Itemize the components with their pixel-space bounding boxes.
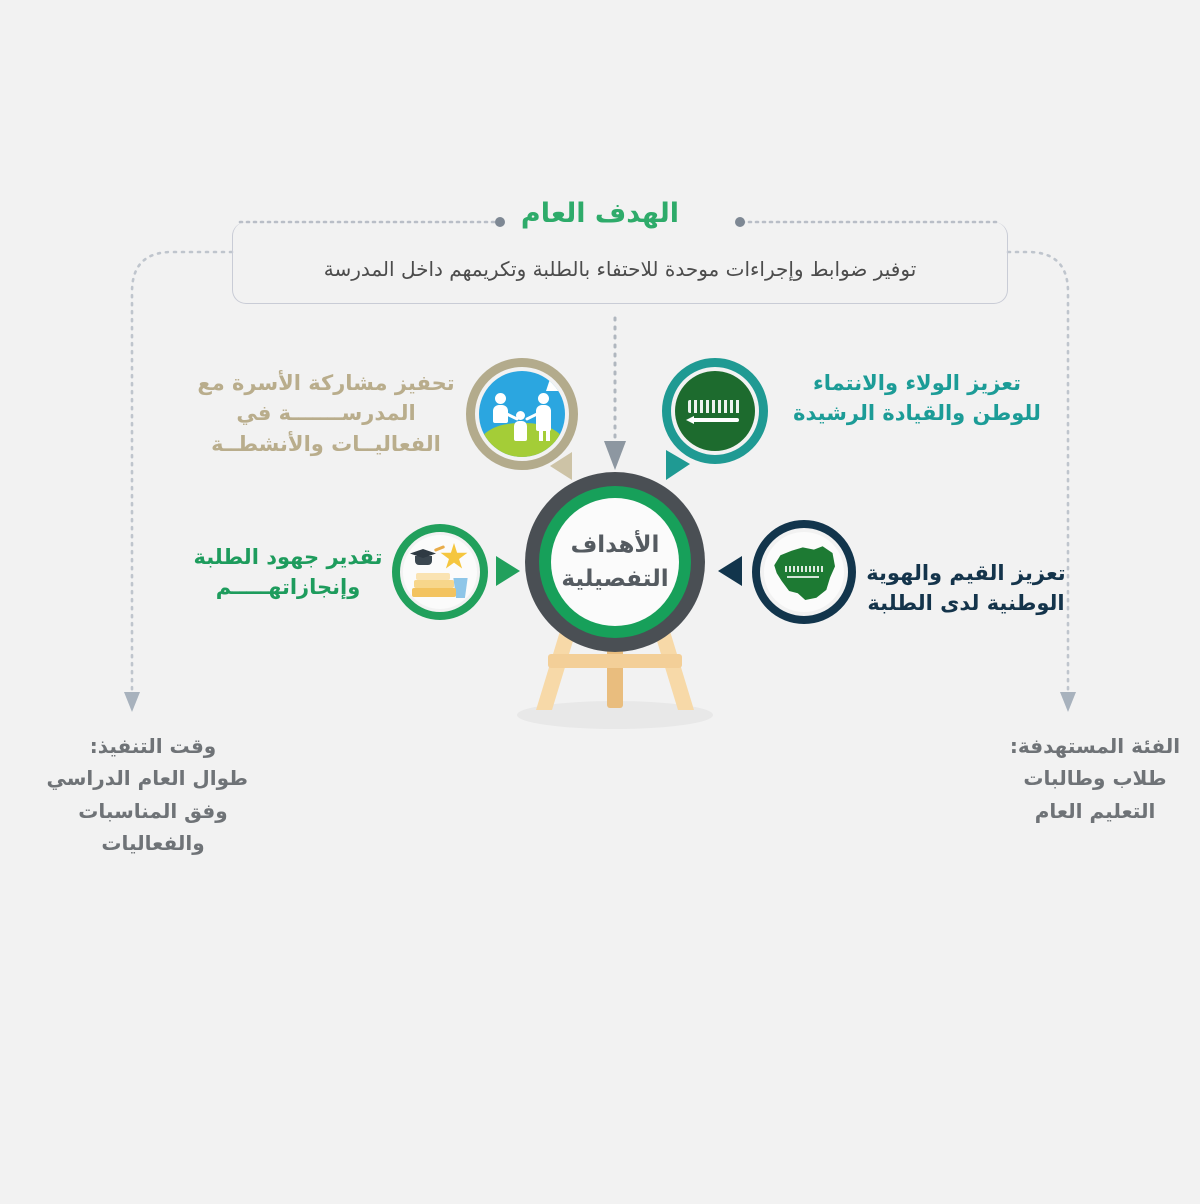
saudi-flag-shahada <box>688 400 742 413</box>
books-icon-mid <box>414 580 454 588</box>
books-icon-top <box>416 573 450 580</box>
saudi-map-icon <box>764 532 844 612</box>
objective-icon-values-identity[interactable] <box>752 520 856 624</box>
objective-label-values-identity: تعزيز القيم والهوية الوطنية لدى الطلبة <box>862 558 1070 619</box>
general-objective-description: توفير ضوابط وإجراءات موحدة للاحتفاء بالط… <box>250 255 990 283</box>
implementation-time-heading: وقت التنفيذ: <box>58 730 248 762</box>
graduation-cap-icon <box>410 549 436 558</box>
objective-label-loyalty-belonging: تعزيز الولاء والانتماء للوطن والقيادة ال… <box>778 368 1056 429</box>
objective-icon-family-participation[interactable] <box>466 358 578 470</box>
objective-icon-loyalty-belonging[interactable] <box>662 358 768 464</box>
target-center: الأهداف التفصيلية <box>551 498 679 626</box>
saudi-flag-sword <box>691 418 739 422</box>
infographic-canvas: الهدف العام توفير ضوابط وإجراءات موحدة ل… <box>0 0 1200 1204</box>
wire-left <box>132 252 232 690</box>
target-group-line2: التعليم العام <box>1000 795 1190 827</box>
general-objective-title: الهدف العام <box>0 200 1200 227</box>
target-group-heading: الفئة المستهدفة: <box>1000 730 1190 762</box>
wire-right-arrow <box>1060 692 1076 712</box>
family-icon-parent-left-head <box>495 393 506 404</box>
achievement-icon <box>403 535 477 609</box>
objective-label-family-participation: تحفيز مشاركة الأسرة مع المدرســـــــة في… <box>192 368 460 459</box>
general-objective-title-wrap: الهدف العام <box>0 0 1200 40</box>
family-icon-parent-right-leg2 <box>546 427 550 441</box>
wire-right <box>1008 252 1068 690</box>
target-group-line1: طلاب وطالبات <box>1000 762 1190 794</box>
wire-center-arrow <box>604 441 626 470</box>
target-group-note: الفئة المستهدفة: طلاب وطالبات التعليم ال… <box>1000 730 1190 827</box>
objective-label-student-effort: تقدير جهود الطلبة وإنجازاتهـــــم <box>184 542 392 603</box>
family-icon-parent-left-body <box>493 405 508 423</box>
implementation-time-line1: طوال العام الدراسي <box>58 762 248 794</box>
center-label-line2: التفصيلية <box>561 562 668 597</box>
family-icon-parent-left-skirt <box>546 371 565 391</box>
family-icon-child-body <box>514 421 527 441</box>
saudi-map-shape <box>773 544 835 600</box>
center-label-line1: الأهداف <box>571 528 660 563</box>
graduation-cap-tassel <box>434 545 445 552</box>
implementation-time-note: وقت التنفيذ: طوال العام الدراسي وفق المن… <box>58 730 248 860</box>
family-icon-parent-right-head <box>538 393 549 404</box>
family-icon <box>479 371 565 457</box>
saudi-flag-icon <box>675 371 755 451</box>
family-icon-parent-right-leg1 <box>539 427 543 441</box>
detailed-objectives-target: الأهداف التفصيلية <box>506 472 724 734</box>
implementation-time-line3: والفعاليات <box>58 827 248 859</box>
books-icon-bottom <box>412 588 456 597</box>
easel-crossbar <box>548 654 682 668</box>
wire-left-arrow <box>124 692 140 712</box>
objective-icon-student-effort[interactable] <box>392 524 488 620</box>
family-icon-child-head <box>516 411 525 420</box>
implementation-time-line2: وفق المناسبات <box>58 795 248 827</box>
